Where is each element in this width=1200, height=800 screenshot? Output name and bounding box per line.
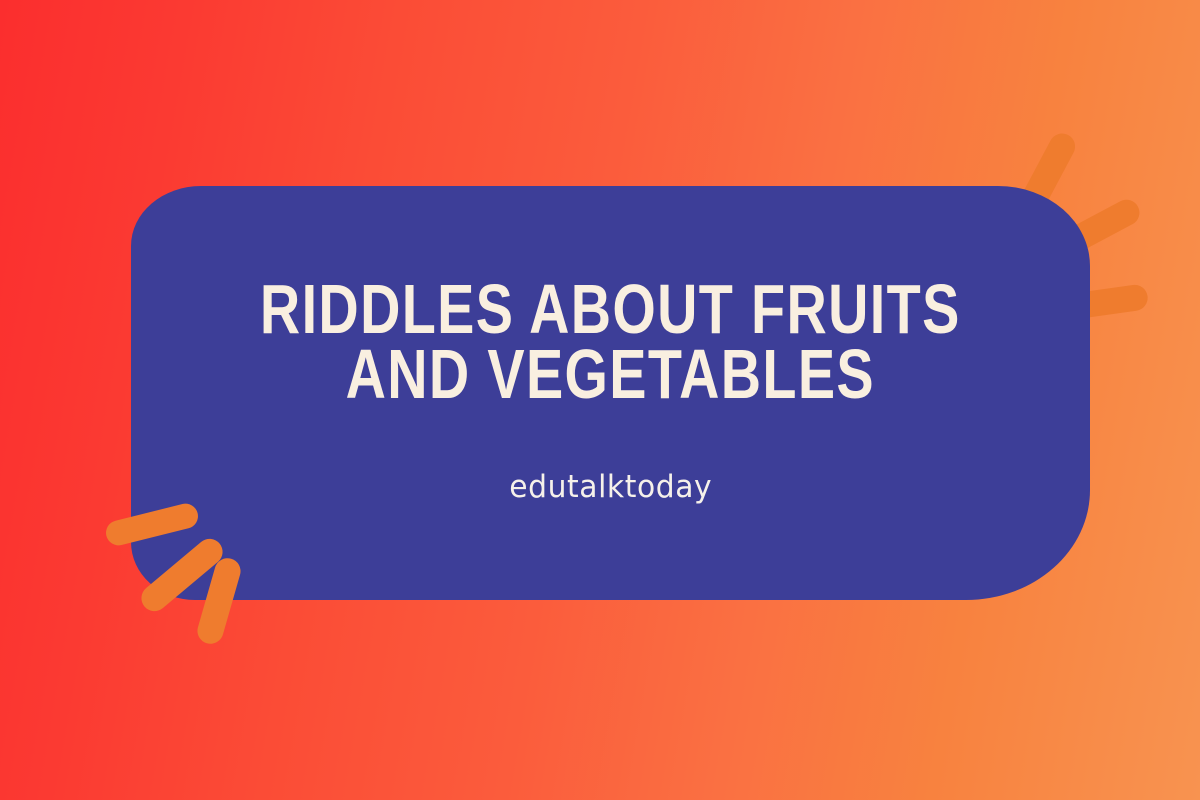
brand-name: edutalktoday <box>509 395 712 505</box>
poster-canvas: Riddles About Fruits and Vegetables edut… <box>0 0 1200 800</box>
title-card: Riddles About Fruits and Vegetables edut… <box>131 186 1090 600</box>
page-title: Riddles About Fruits and Vegetables <box>237 278 985 409</box>
